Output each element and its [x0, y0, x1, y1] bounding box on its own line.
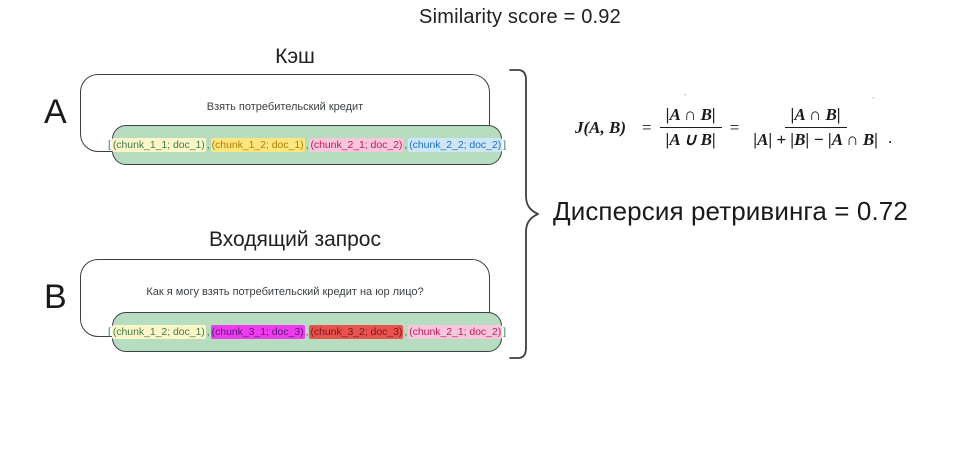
curly-brace-svg — [508, 68, 548, 360]
group-label-b: B — [44, 280, 67, 314]
incoming-chunk-token: (chunk_3_2; doc_3) — [309, 325, 403, 339]
jaccard-formula: J(A, B) = |A ∩ B| |A ∪ B| = |A ∩ B| |A| … — [575, 105, 892, 150]
incoming-chunk-token: , — [206, 326, 211, 338]
incoming-chunk-token: (chunk_3_1; doc_3) — [211, 325, 305, 339]
retrieval-dispersion-label: Дисперсия ретривинга = 0.72 — [553, 196, 908, 227]
cache-chunk-token: (chunk_1_1; doc_1) — [112, 138, 206, 152]
incoming-chunk-list: [ (chunk_1_2; doc_1), (chunk_3_1; doc_3)… — [112, 312, 502, 352]
formula-fraction-2: |A ∩ B| |A| + |B| − |A ∩ B| — [747, 105, 884, 150]
incoming-chunk-token: (chunk_2_1; doc_2) — [408, 325, 502, 339]
formula-equals-1: = — [642, 118, 652, 138]
stray-tick-right: ´ — [872, 99, 876, 103]
incoming-chunk-token: (chunk_1_2; doc_1) — [112, 325, 206, 339]
incoming-chunk-token: ] — [502, 325, 507, 339]
cache-chunk-token: (chunk_2_1; doc_2) — [309, 138, 403, 152]
formula-numerator-2: |A ∩ B| — [785, 105, 847, 128]
formula-equals-2: = — [730, 118, 740, 138]
heading-incoming-query: Входящий запрос — [150, 228, 440, 252]
formula-fraction-1: |A ∩ B| |A ∪ B| — [660, 105, 722, 150]
curly-brace-icon — [508, 68, 548, 360]
cache-chunk-token: ] — [502, 138, 507, 152]
stray-tick-left: ´ — [684, 96, 688, 100]
group-label-a: A — [44, 95, 67, 129]
formula-denominator-2: |A| + |B| − |A ∩ B| — [747, 128, 884, 150]
cache-chunk-token: (chunk_1_2; doc_1) — [211, 138, 305, 152]
heading-cache: Кэш — [150, 45, 440, 69]
diagram-canvas: Similarity score = 0.92 Кэш A Взять потр… — [0, 0, 975, 451]
formula-period: . — [888, 128, 892, 150]
formula-denominator-1: |A ∪ B| — [660, 128, 722, 150]
cache-query-text: Взять потребительский кредит — [81, 101, 489, 113]
formula-numerator-1: |A ∩ B| — [660, 105, 722, 128]
formula-lhs: J(A, B) — [575, 118, 626, 138]
cache-chunk-token: (chunk_2_2; doc_2) — [408, 138, 502, 152]
cache-chunk-token: , — [206, 139, 211, 151]
similarity-score-title: Similarity score = 0.92 — [300, 6, 740, 29]
cache-chunk-list: [ (chunk_1_1; doc_1), (chunk_1_2; doc_1)… — [112, 125, 502, 165]
incoming-query-text: Как я могу взять потребительский кредит … — [81, 286, 489, 298]
